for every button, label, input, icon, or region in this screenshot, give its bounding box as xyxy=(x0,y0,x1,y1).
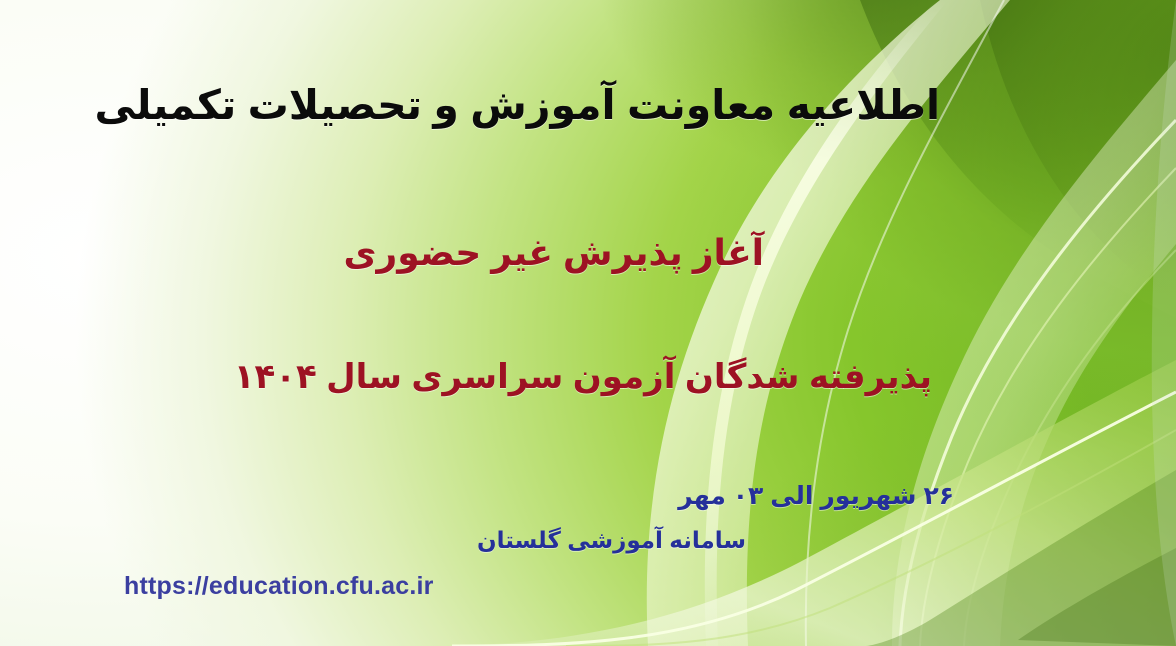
poster-content: اطلاعیه معاونت آموزش و تحصیلات تکمیلی آغ… xyxy=(0,0,1176,646)
date-range-text: ۲۶ شهریور الی ۰۳ مهر xyxy=(678,482,954,511)
announcement-poster: اطلاعیه معاونت آموزش و تحصیلات تکمیلی آغ… xyxy=(0,0,1176,646)
page-title: اطلاعیه معاونت آموزش و تحصیلات تکمیلی xyxy=(95,82,940,129)
system-name-text: سامانه آموزشی گلستان xyxy=(477,527,746,553)
portal-url-link[interactable]: https://education.cfu.ac.ir xyxy=(124,572,434,601)
body-headline: پذیرفته شدگان آزمون سراسری سال ۱۴۰۴ xyxy=(234,358,932,397)
subtitle-headline: آغاز پذیرش غیر حضوری xyxy=(344,232,764,273)
